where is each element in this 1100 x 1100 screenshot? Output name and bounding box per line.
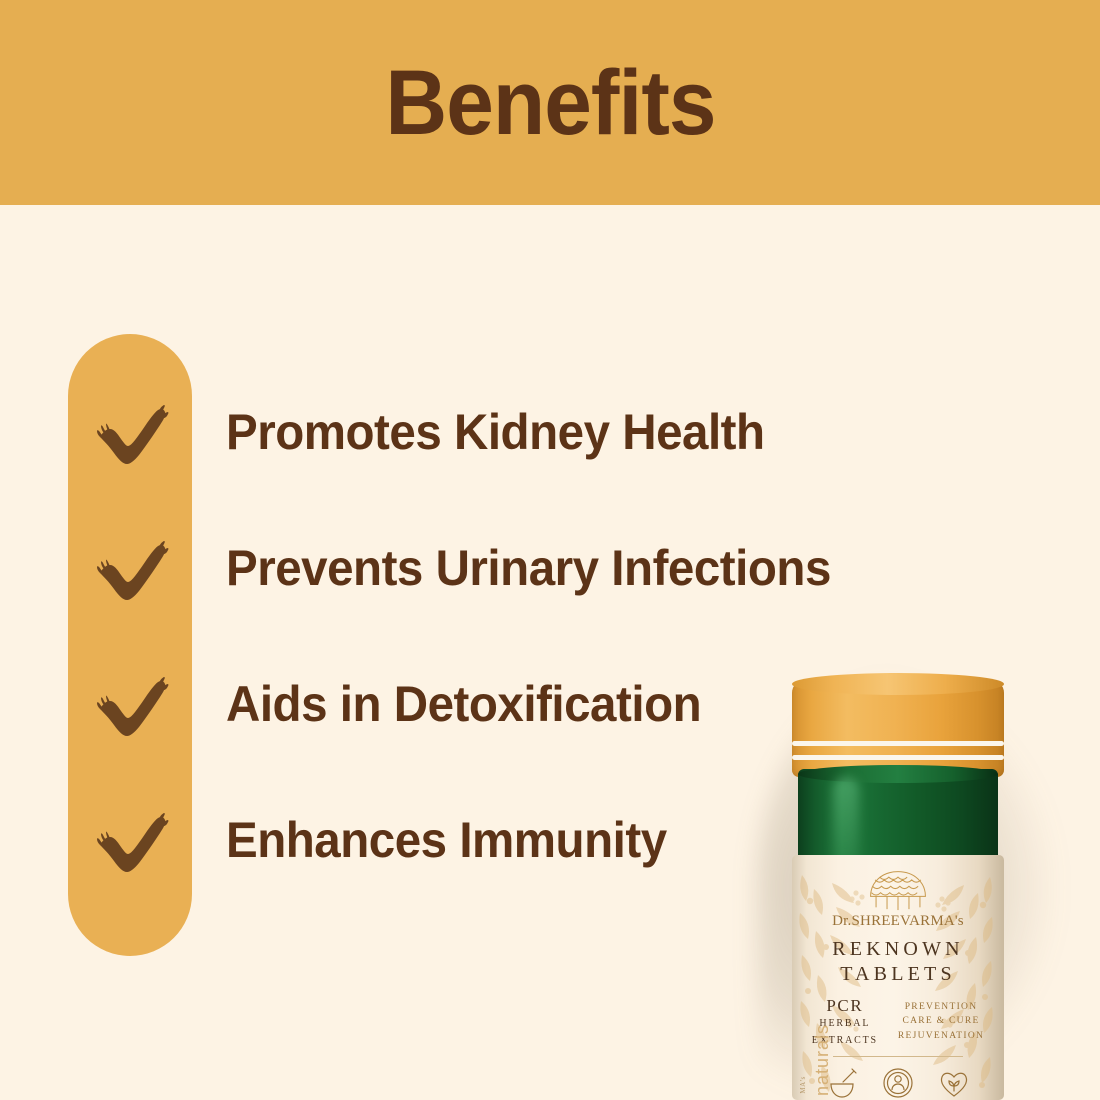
check-icon bbox=[86, 661, 174, 747]
check-icon bbox=[86, 525, 174, 611]
check-icon bbox=[86, 389, 174, 475]
list-item-label: Aids in Detoxification bbox=[226, 675, 701, 733]
list-item-label: Enhances Immunity bbox=[226, 811, 667, 869]
benefits-list: Promotes Kidney Health Prevents Urinary … bbox=[0, 0, 1100, 1100]
benefits-poster: Benefits Promotes Kidney Health bbox=[0, 0, 1100, 1100]
list-item: Aids in Detoxification bbox=[86, 661, 986, 747]
list-item: Promotes Kidney Health bbox=[86, 389, 986, 475]
check-icon bbox=[86, 797, 174, 883]
list-item-label: Prevents Urinary Infections bbox=[226, 539, 831, 597]
list-item-label: Promotes Kidney Health bbox=[226, 403, 765, 461]
list-item: Prevents Urinary Infections bbox=[86, 525, 986, 611]
list-item: Enhances Immunity bbox=[86, 797, 986, 883]
